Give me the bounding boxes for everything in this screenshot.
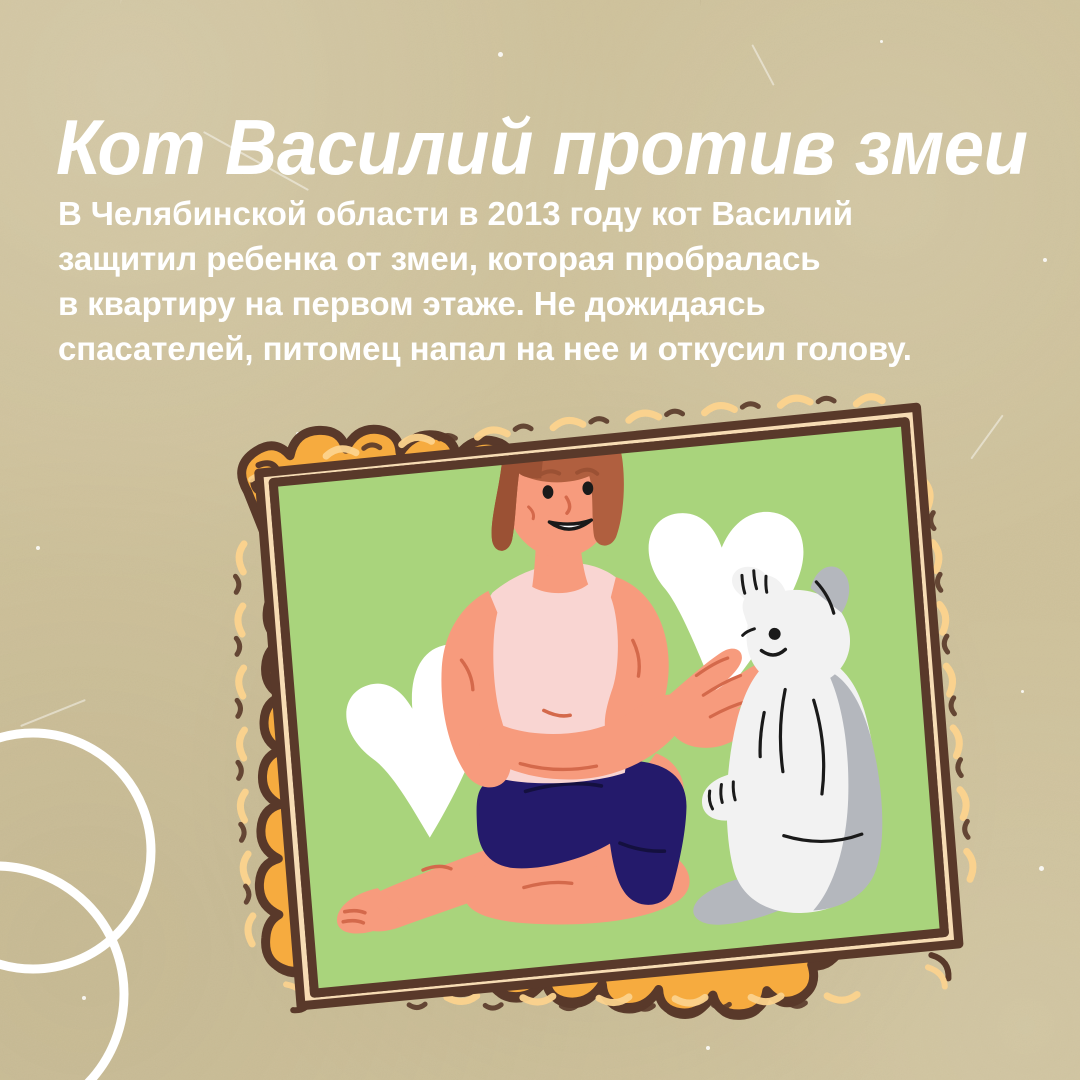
paper-speck	[1021, 690, 1024, 693]
paper-speck	[1043, 258, 1047, 262]
body-line: защитил ребенка от змеи, которая пробрал…	[58, 237, 1004, 282]
paper-speck	[36, 546, 40, 550]
body-line: спасателей, питомец напал на нее и откус…	[58, 327, 1004, 372]
overlapping-circles-decoration	[0, 726, 238, 1080]
body-paragraph: В Челябинской области в 2013 году кот Ва…	[58, 192, 1004, 372]
paper-speck	[706, 1046, 710, 1050]
paper-speck	[498, 52, 503, 57]
picture-canvas	[244, 388, 971, 1027]
paper-scratch	[20, 699, 86, 727]
paper-speck	[82, 996, 86, 1000]
paper-speck	[1039, 866, 1044, 871]
body-line: В Челябинской области в 2013 году кот Ва…	[58, 192, 1004, 237]
paper-scratch	[970, 415, 1003, 460]
poster-canvas: Кот Василий против змеи В Челябинской об…	[0, 0, 1080, 1080]
page-title: Кот Василий против змеи	[56, 104, 967, 190]
paper-speck	[880, 40, 883, 43]
paper-scratch	[751, 44, 774, 86]
body-line: в квартиру на первом этаже. Не дожидаясь	[58, 282, 1004, 327]
framed-picture-illustration	[204, 375, 992, 1049]
